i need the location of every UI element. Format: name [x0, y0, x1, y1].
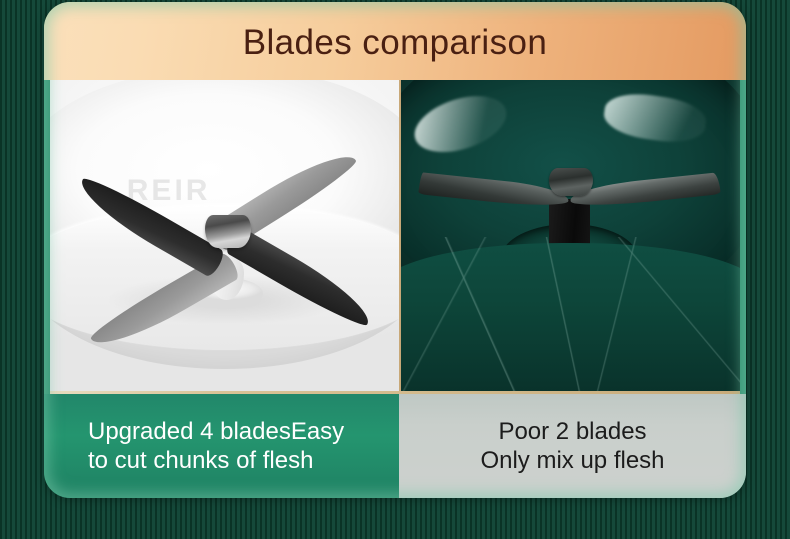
caption-strip: Upgraded 4 bladesEasy to cut chunks of f… [44, 394, 746, 498]
white-scene: REIR [50, 80, 399, 394]
page-background: Blades comparison REIR [0, 0, 790, 539]
caption-upgraded-line-2: to cut chunks of flesh [88, 446, 313, 475]
page-title: Blades comparison [243, 25, 547, 60]
caption-upgraded: Upgraded 4 bladesEasy to cut chunks of f… [44, 394, 399, 498]
card-header: Blades comparison [44, 2, 746, 80]
photo-upgraded-four-blades[interactable]: REIR [50, 80, 399, 394]
scratch-marks-overlay [399, 237, 740, 394]
photo-vertical-divider [399, 80, 401, 394]
worn-blade-hub-nut-icon [549, 168, 593, 196]
comparison-card: Blades comparison REIR [44, 2, 746, 498]
photo-poor-two-blades[interactable] [399, 80, 740, 394]
photo-strip: REIR [50, 80, 740, 394]
caption-poor-line-2: Only mix up flesh [480, 446, 664, 475]
caption-poor-line-1: Poor 2 blades [498, 417, 646, 446]
photo-bottom-divider [50, 391, 740, 394]
caption-upgraded-line-1: Upgraded 4 bladesEasy [88, 417, 344, 446]
caption-poor: Poor 2 blades Only mix up flesh [399, 394, 746, 498]
blade-hub-nut-icon [205, 215, 250, 248]
green-scene [399, 80, 740, 394]
